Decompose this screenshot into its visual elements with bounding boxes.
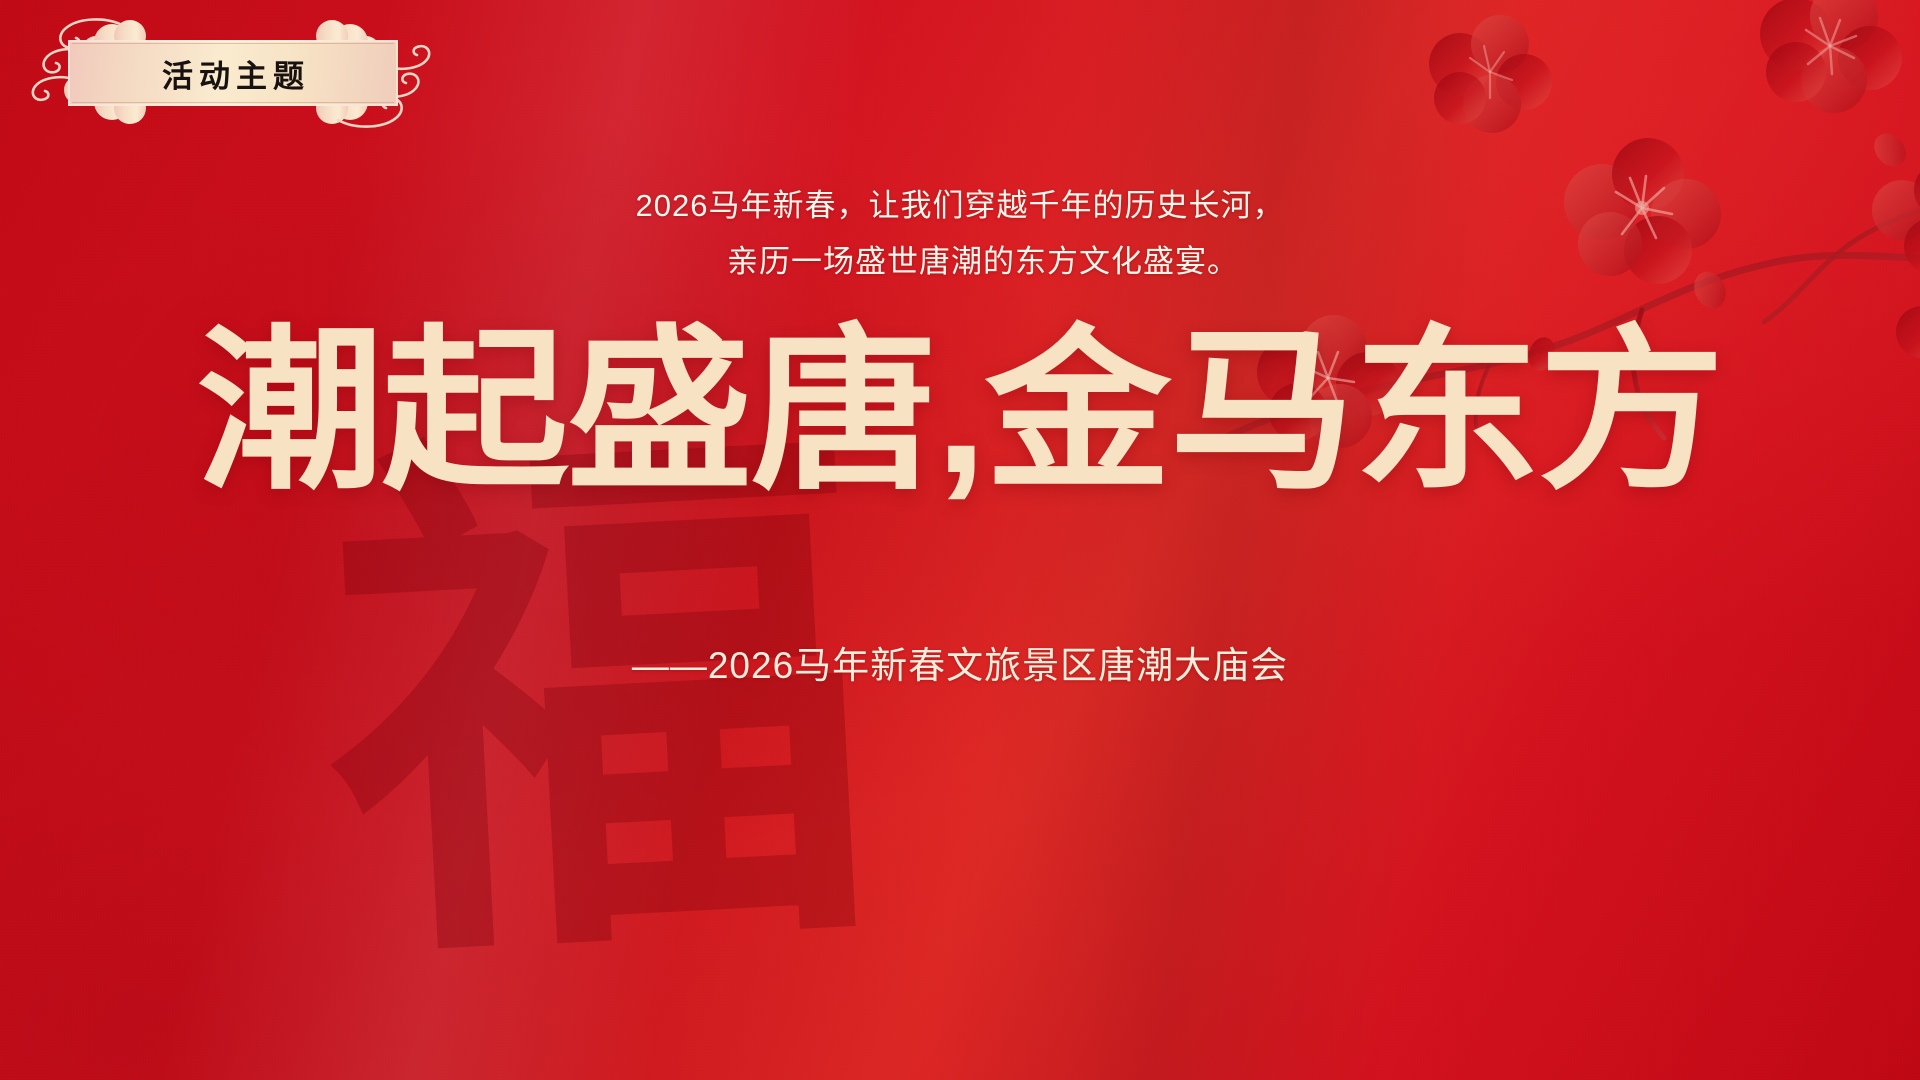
intro-line-1: 2026马年新春，让我们穿越千年的历史长河， (0, 178, 1920, 234)
page-title: 潮起盛唐,金马东方 (0, 324, 1920, 500)
badge-plate: 活动主题 (68, 40, 398, 106)
subtitle-caption: ——2026马年新春文旅景区唐潮大庙会 (0, 640, 1920, 692)
intro-line-2: 亲历一场盛世唐潮的东方文化盛宴。 (0, 234, 1920, 290)
light-sheen-overlay (0, 0, 1920, 1080)
intro-paragraph: 2026马年新春，让我们穿越千年的历史长河， 亲历一场盛世唐潮的东方文化盛宴。 (0, 178, 1920, 290)
badge-label: 活动主题 (156, 51, 310, 96)
section-badge: 活动主题 (20, 14, 440, 132)
poster-canvas: 福 (0, 0, 1920, 1080)
fabric-texture-overlay (0, 0, 1920, 1080)
